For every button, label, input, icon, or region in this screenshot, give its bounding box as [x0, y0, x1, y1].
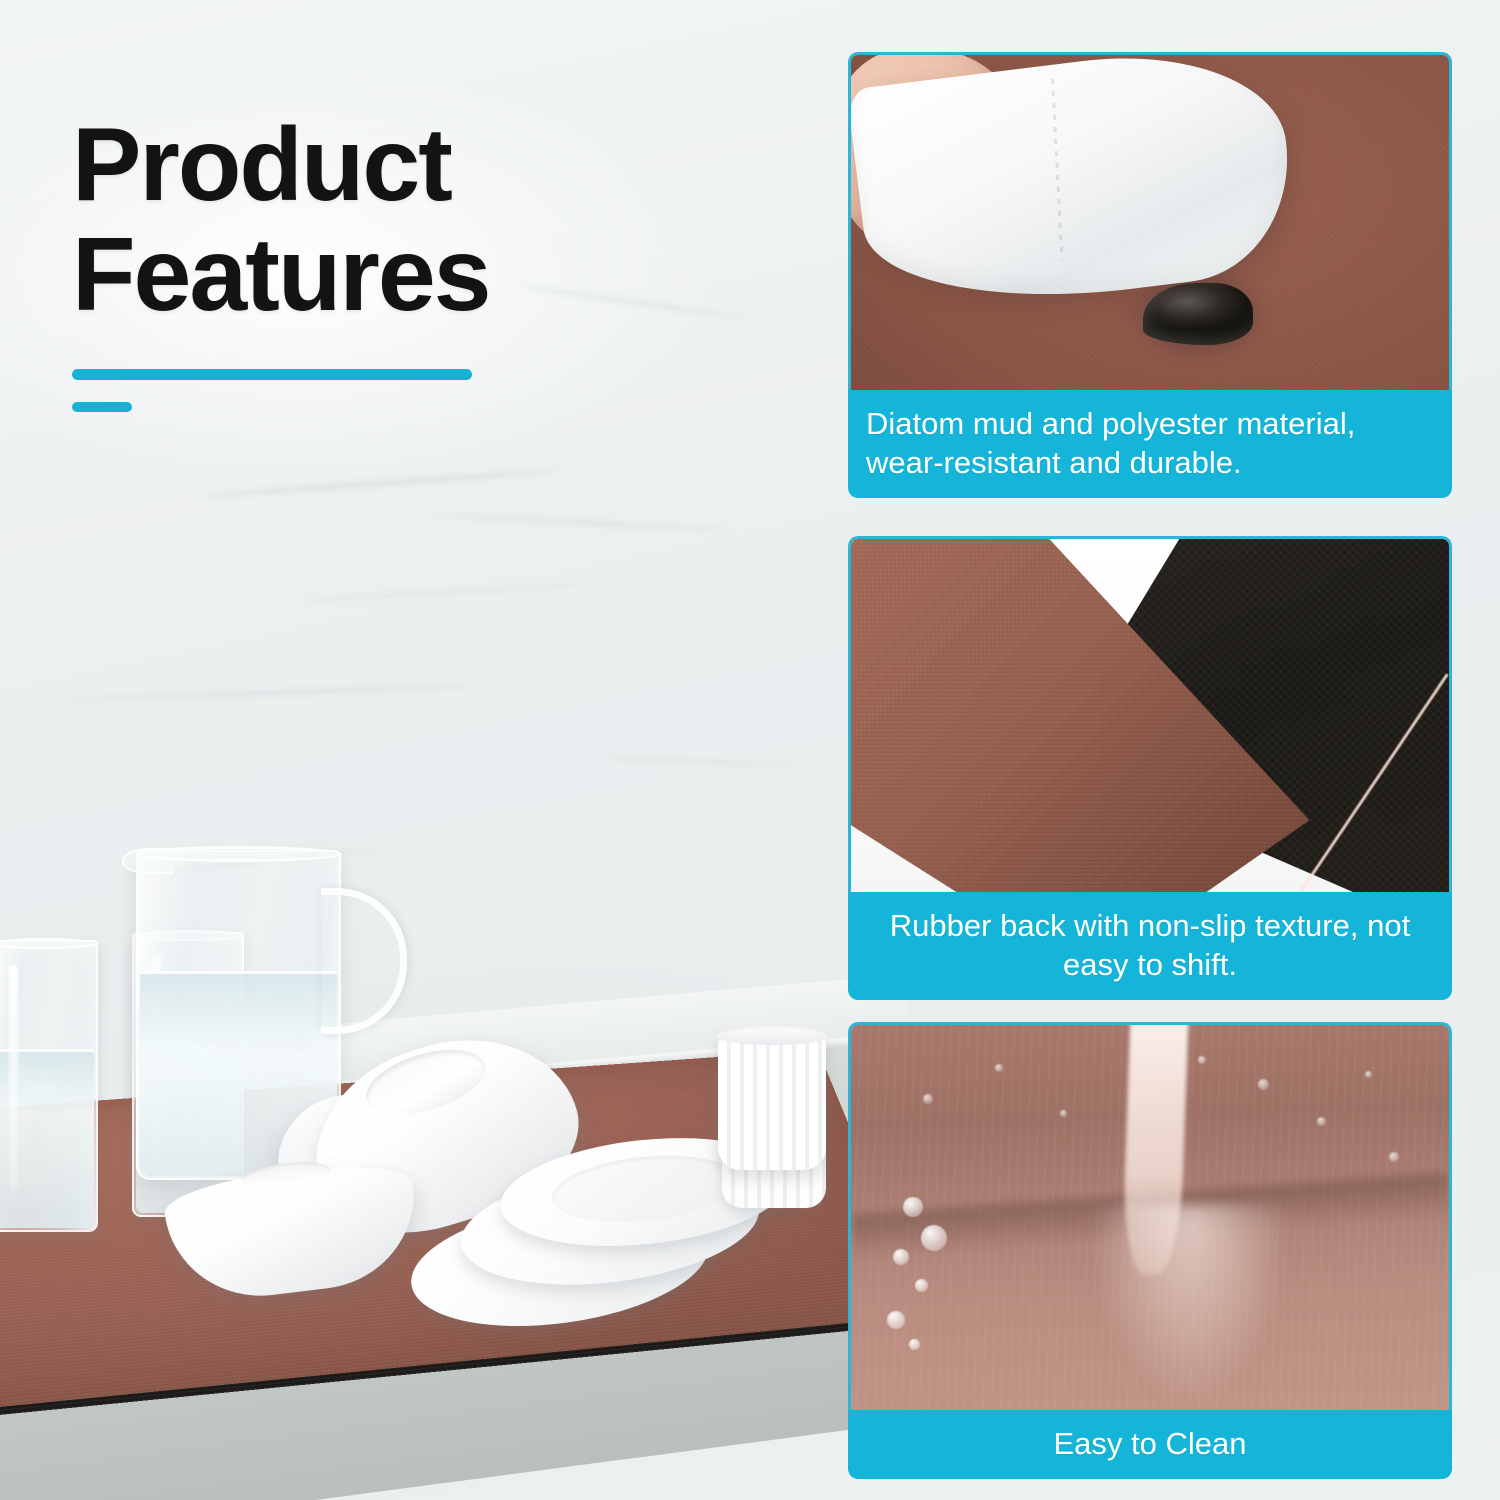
infographic-canvas: Product Features: [0, 0, 1500, 1500]
fluted-cup: [718, 1032, 826, 1170]
feature-photo-easy-clean: [848, 1022, 1452, 1410]
liquid-drop-icon: [1143, 283, 1253, 345]
title-line-1: Product: [72, 110, 712, 220]
accent-bar-long: [72, 369, 472, 380]
feature-panel-material: Diatom mud and polyester material, wear-…: [848, 52, 1452, 498]
feature-panel-easy-clean: Easy to Clean: [848, 1022, 1452, 1479]
drinking-glass: [0, 940, 98, 1232]
feature-photo-material: [848, 52, 1452, 390]
title-line-2: Features: [72, 220, 712, 330]
page-title: Product Features: [72, 110, 712, 330]
water-droplets: [851, 1025, 1449, 1410]
accent-bar-short: [72, 402, 132, 412]
feature-caption-easy-clean: Easy to Clean: [848, 1410, 1452, 1479]
feature-caption-material: Diatom mud and polyester material, wear-…: [848, 390, 1452, 498]
feature-panel-rubber-back: Rubber back with non-slip texture, not e…: [848, 536, 1452, 1000]
feature-caption-rubber-back: Rubber back with non-slip texture, not e…: [848, 892, 1452, 1000]
feature-photo-rubber-back: [848, 536, 1452, 892]
product-scene-photo: [0, 840, 860, 1500]
pitcher-handle: [321, 888, 407, 1034]
